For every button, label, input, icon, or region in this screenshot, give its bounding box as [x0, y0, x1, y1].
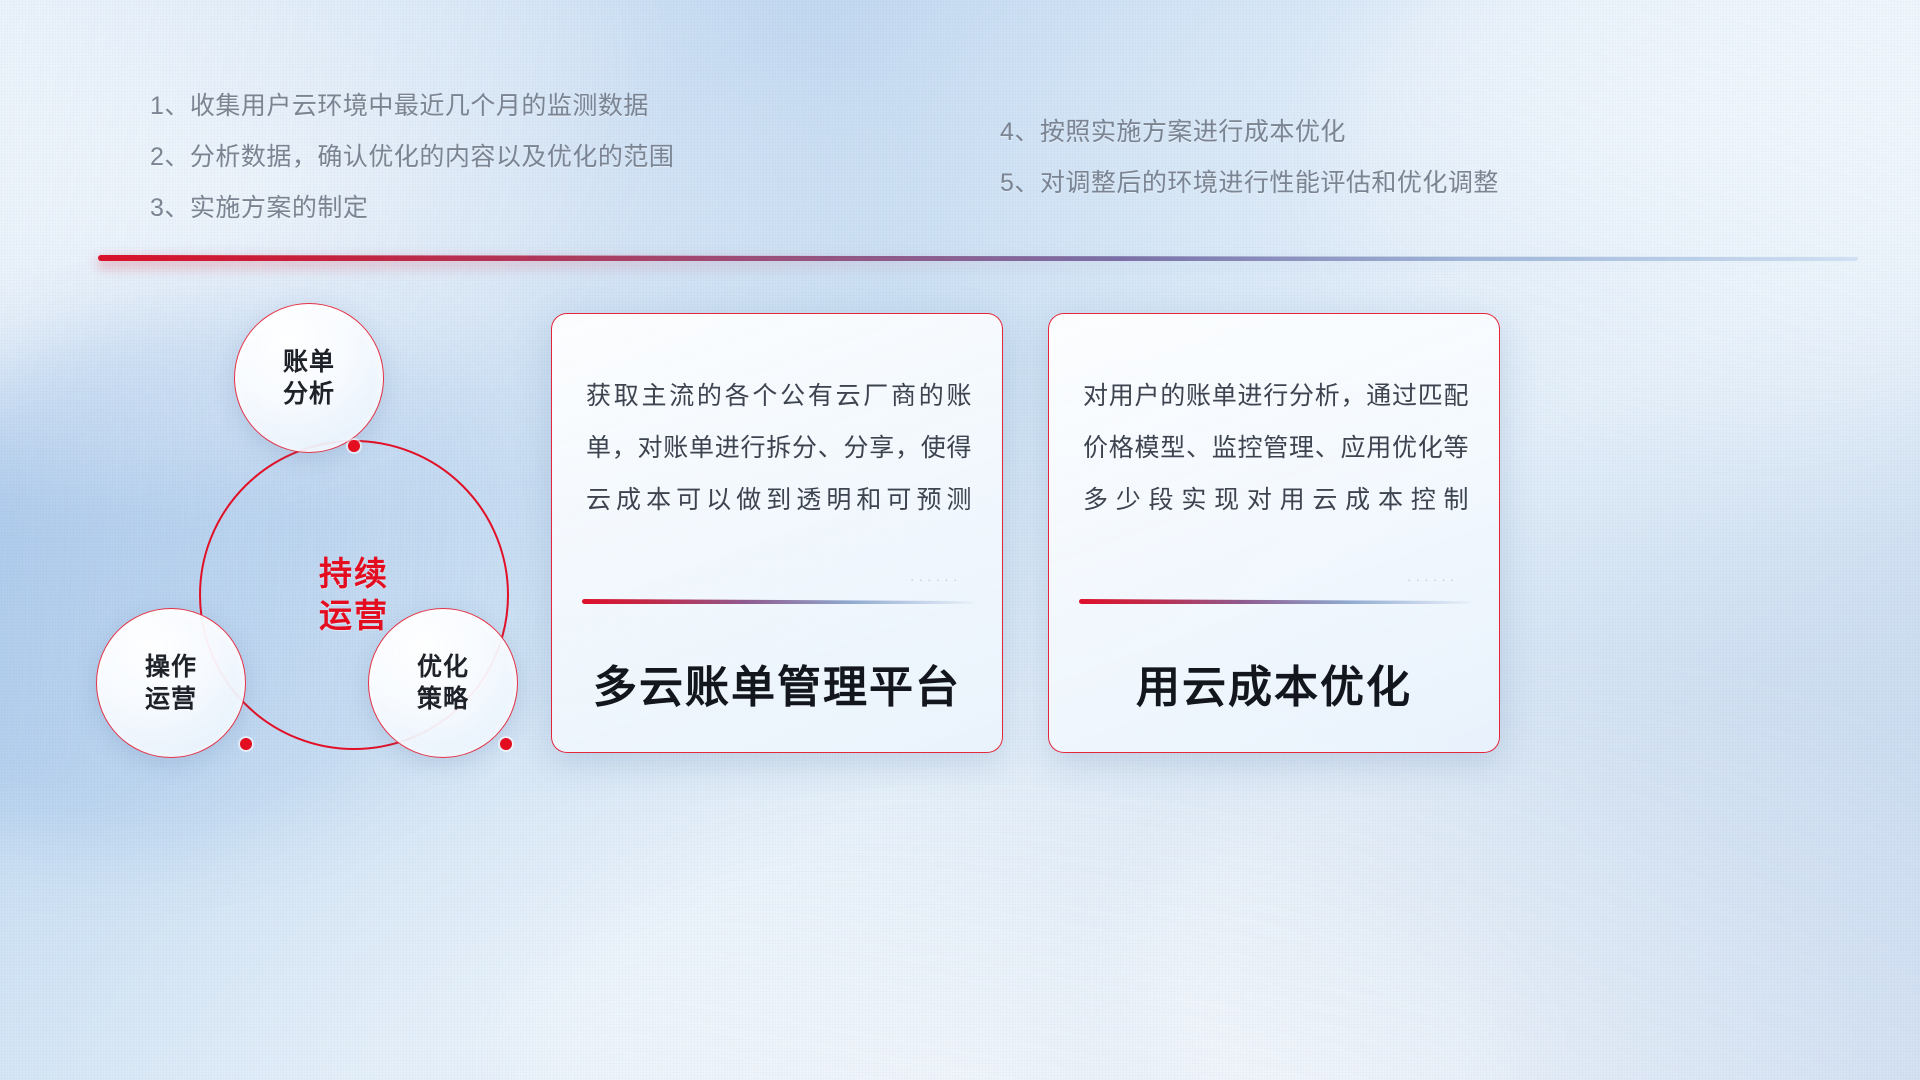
bubble-label-ops-operation: 操作运营: [145, 651, 197, 716]
card-2-dots: ......: [1407, 569, 1459, 584]
step-item-4: 4、按照实施方案进行成本优化: [1000, 120, 1499, 145]
diagram-bubble-ops-operation[interactable]: 操作运营: [96, 608, 246, 758]
card-1-rule: [582, 599, 974, 604]
card-2-body: 对用户的账单进行分析，通过匹配价格模型、监控管理、应用优化等多少段实现对用云成本…: [1083, 370, 1469, 526]
card-2-title: 用云成本优化: [1049, 666, 1499, 710]
bubble-label-bill-analysis: 账单分析: [283, 346, 335, 411]
card-multi-cloud-bill-platform[interactable]: 获取主流的各个公有云厂商的账单，对账单进行拆分、分享，使得云成本可以做到透明和可…: [551, 313, 1003, 753]
diagram-bubble-optimize-strategy[interactable]: 优化策略: [368, 608, 518, 758]
diagram-node-dot-top: [348, 440, 360, 452]
continuous-operation-diagram: 持续运营 账单分析 操作运营 优化策略: [80, 295, 550, 785]
step-item-5: 5、对调整后的环境进行性能评估和优化调整: [1000, 171, 1499, 196]
card-1-dots: ......: [910, 569, 962, 584]
step-item-3: 3、实施方案的制定: [150, 196, 674, 221]
diagram-bubble-bill-analysis[interactable]: 账单分析: [234, 303, 384, 453]
step-item-1: 1、收集用户云环境中最近几个月的监测数据: [150, 94, 674, 119]
steps-left-column: 1、收集用户云环境中最近几个月的监测数据 2、分析数据，确认优化的内容以及优化的…: [150, 94, 674, 221]
diagram-node-dot-bottom-left: [240, 738, 252, 750]
diagram-center-text: 持续运营: [319, 553, 389, 637]
steps-section: 1、收集用户云环境中最近几个月的监测数据 2、分析数据，确认优化的内容以及优化的…: [0, 0, 1920, 260]
card-cloud-cost-optimization[interactable]: 对用户的账单进行分析，通过匹配价格模型、监控管理、应用优化等多少段实现对用云成本…: [1048, 313, 1500, 753]
step-item-2: 2、分析数据，确认优化的内容以及优化的范围: [150, 145, 674, 170]
card-2-rule: [1079, 599, 1471, 604]
bubble-label-optimize-strategy: 优化策略: [417, 651, 469, 716]
slide-canvas: 1、收集用户云环境中最近几个月的监测数据 2、分析数据，确认优化的内容以及优化的…: [0, 0, 1920, 1080]
steps-right-column: 4、按照实施方案进行成本优化 5、对调整后的环境进行性能评估和优化调整: [1000, 120, 1499, 196]
card-1-body: 获取主流的各个公有云厂商的账单，对账单进行拆分、分享，使得云成本可以做到透明和可…: [586, 370, 972, 526]
card-1-title: 多云账单管理平台: [552, 666, 1002, 710]
diagram-node-dot-bottom-right: [500, 738, 512, 750]
